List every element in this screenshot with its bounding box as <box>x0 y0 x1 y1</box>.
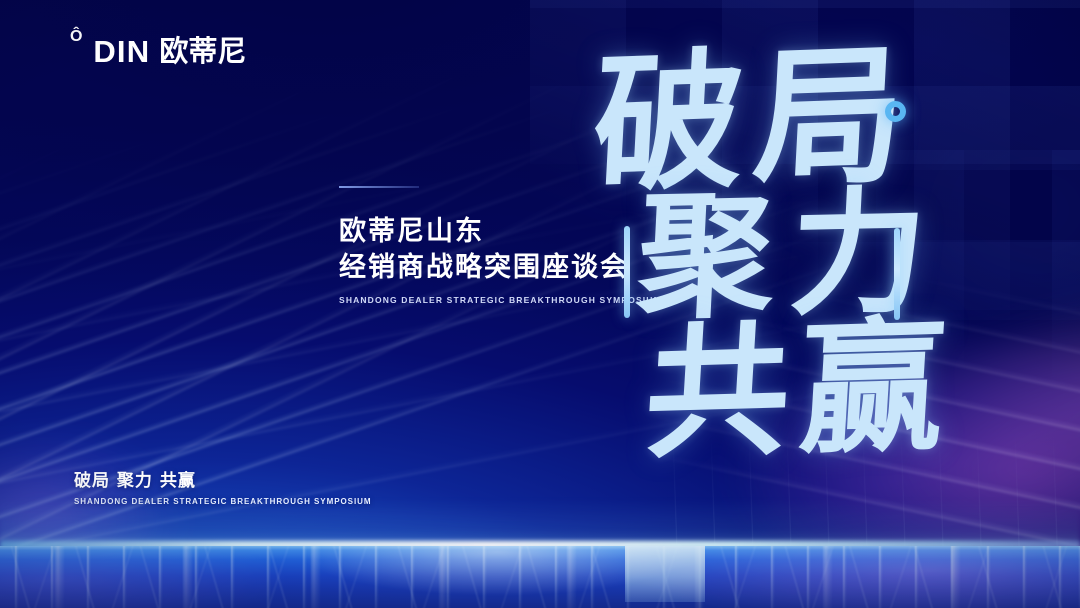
footer-tagline-english: SHANDONG DEALER STRATEGIC BREAKTHROUGH S… <box>74 497 371 506</box>
calligraphy-slogan: 破局 聚力 共赢 <box>560 46 1060 476</box>
brand-logo: ÔODIN 欧蒂尼 <box>68 36 246 67</box>
title-divider-rule <box>339 186 419 188</box>
degree-circle-icon <box>885 101 906 122</box>
brand-logo-chinese: 欧蒂尼 <box>159 37 246 66</box>
calligraphy-row-gongying: 共赢 <box>642 320 959 461</box>
calligraphy-row-poju: 破局 <box>590 46 918 195</box>
brand-logo-latin-text: DIN <box>93 34 150 69</box>
footer-tagline-chinese: 破局 聚力 共赢 <box>74 466 371 491</box>
accent-bar-left <box>624 226 630 318</box>
footer-tagline: 破局 聚力 共赢 SHANDONG DEALER STRATEGIC BREAK… <box>74 466 371 506</box>
brand-logo-latin: ÔODIN <box>68 36 150 67</box>
event-backdrop-poster: ÔODIN 欧蒂尼 欧蒂尼山东 经销商战略突围座谈会 SHANDONG DEAL… <box>0 0 1080 608</box>
floor-color-tint <box>0 546 1080 608</box>
brand-logo-accent-o: Ô <box>70 29 84 45</box>
